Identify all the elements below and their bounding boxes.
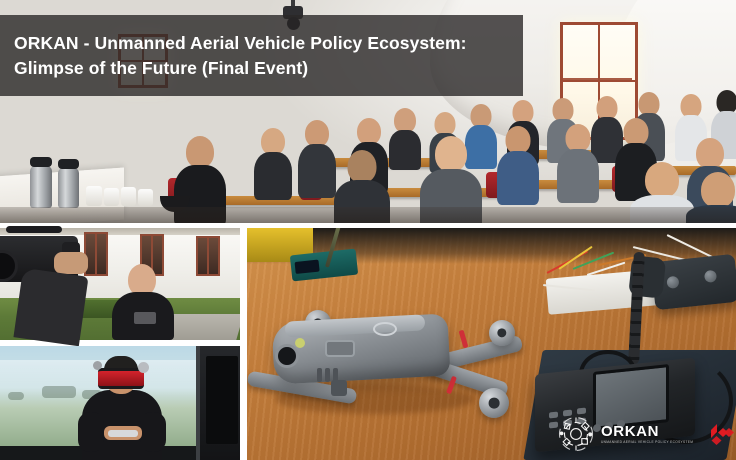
interviewee — [112, 264, 174, 340]
event-photo-collage: ORKAN - Unmanned Aerial Vehicle Policy E… — [0, 0, 736, 460]
audience-person — [390, 108, 420, 168]
cup-stack — [86, 186, 102, 206]
logo-bar: ORKAN UNMANNED AERIAL VEHICLE POLICY ECO… — [556, 414, 736, 454]
coffee-thermos — [30, 166, 52, 208]
audience-person — [256, 128, 290, 196]
drone-vent — [325, 368, 330, 382]
facade-window — [196, 236, 220, 276]
drone-battery-hatch — [325, 340, 355, 357]
drone-top-marker — [373, 322, 397, 336]
operator-arm — [13, 268, 88, 347]
orkan-wordmark: ORKAN — [601, 424, 693, 439]
drone-motor — [489, 320, 515, 346]
hrzz-red-diamonds-mark-icon — [711, 423, 736, 445]
projected-terrain — [42, 386, 76, 398]
drone-motor — [479, 388, 509, 418]
video-camera-rig — [0, 228, 112, 340]
remote-controller — [651, 254, 736, 311]
cup-stack — [104, 188, 119, 206]
goggles-antenna — [138, 362, 149, 373]
side-monitor — [196, 346, 240, 460]
control-stick — [704, 270, 717, 283]
orkan-subtitle: UNMANNED AERIAL VEHICLE POLICY ECOSYSTEM — [601, 441, 693, 444]
drone-camera-icon — [275, 344, 299, 368]
title-overlay: ORKAN - Unmanned Aerial Vehicle Policy E… — [0, 15, 523, 96]
drone-red-marking — [459, 330, 469, 349]
hrzz-logo: HRZZ — [711, 423, 736, 445]
drone-landing-leg — [331, 380, 347, 396]
collage-gutter-vertical — [240, 228, 247, 460]
title-line-1: ORKAN - Unmanned Aerial Vehicle Policy E… — [14, 31, 523, 56]
title-line-2: Glimpse of the Future (Final Event) — [14, 56, 523, 81]
drone-sensor — [295, 338, 305, 348]
camera-microphone — [6, 226, 62, 233]
handheld-controller — [108, 430, 138, 437]
hall-window-mullion — [560, 78, 632, 80]
control-stick — [666, 276, 679, 289]
goggles-antenna — [93, 361, 102, 370]
cup-stack — [121, 187, 136, 206]
audience-person — [500, 126, 536, 202]
quadcopter-drone — [265, 284, 515, 424]
hall-foreground-shadow — [0, 207, 736, 223]
audience-person — [560, 124, 596, 200]
projected-terrain — [8, 392, 24, 400]
photo-fpv-pilot-presentation — [0, 346, 240, 460]
fpv-pilot — [82, 356, 162, 460]
operator-hand — [54, 252, 88, 274]
drone-vent — [317, 368, 322, 382]
audience-person — [300, 120, 334, 194]
fpv-goggles-icon — [98, 368, 144, 389]
coffee-thermos — [58, 168, 79, 208]
cup-stack — [138, 189, 153, 206]
orkan-logo: ORKAN UNMANNED AERIAL VEHICLE POLICY ECO… — [556, 414, 693, 454]
orkan-drone-circle-mark-icon — [556, 414, 596, 454]
